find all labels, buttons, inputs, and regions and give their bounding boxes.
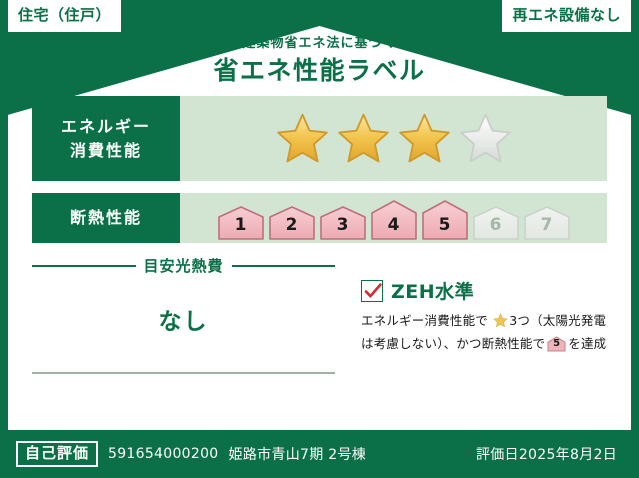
insulation-level-3: 3 xyxy=(319,206,367,240)
property-address: 姫路市青山7期 2号棟 xyxy=(229,444,367,464)
energy-performance-label-key: エネルギー 消費性能 xyxy=(32,96,180,181)
insulation-label: 断熱性能 xyxy=(70,206,142,229)
label-footer: 自己評価 591654000200 姫路市青山7期 2号棟 評価日2025年8月… xyxy=(0,430,639,478)
heading-rule-right xyxy=(232,265,336,267)
zeh-title: ZEH水準 xyxy=(391,277,474,304)
evaluation-date: 評価日2025年8月2日 xyxy=(476,444,623,464)
insulation-performance-label-key: 断熱性能 xyxy=(32,193,180,243)
insulation-level-7: 7 xyxy=(523,206,571,240)
insulation-level-6: 6 xyxy=(472,206,520,240)
energy-label-line2: 消費性能 xyxy=(70,139,142,162)
insulation-performance-row: 断熱性能 1234567 xyxy=(32,193,607,243)
insulation-level-2: 2 xyxy=(268,206,316,240)
self-evaluation-badge: 自己評価 xyxy=(16,441,98,467)
housing-type-tag: 住宅（住戸） xyxy=(8,0,121,32)
insulation-level-number: 1 xyxy=(217,215,265,235)
label-content: エネルギー 消費性能 断熱性能 1234567 目安光熱費 xyxy=(8,96,631,430)
check-icon xyxy=(361,280,383,302)
zeh-heading: ZEH水準 xyxy=(361,277,607,304)
insulation-level-scale: 1234567 xyxy=(217,193,571,243)
insulation-level-number: 2 xyxy=(268,215,316,235)
insulation-level-1: 1 xyxy=(217,206,265,240)
insulation-level-4: 4 xyxy=(370,200,418,240)
energy-performance-label: 住宅（住戸） 再エネ設備なし 建築物省エネ法に基づく 省エネ性能ラベル エネルギ… xyxy=(0,0,639,478)
insulation-level-5: 5 xyxy=(421,200,469,240)
renewable-equipment-tag: 再エネ設備なし xyxy=(502,0,631,32)
star-icon-filled xyxy=(274,111,331,166)
utility-cost-panel: 目安光熱費 なし xyxy=(32,255,347,374)
star-rating xyxy=(274,111,514,166)
insulation-level-number: 3 xyxy=(319,215,367,235)
insulation-performance-value: 1234567 xyxy=(180,193,607,243)
zeh-panel: ZEH水準 エネルギー消費性能で 3つ（太陽光発電 は考慮しない）、かつ断熱性能… xyxy=(347,255,607,374)
utility-cost-value: なし xyxy=(32,302,335,336)
zeh-desc-part4: を達成 xyxy=(568,336,606,351)
zeh-description: エネルギー消費性能で 3つ（太陽光発電 は考慮しない）、かつ断熱性能で 5 を達… xyxy=(361,311,607,355)
star-icon-filled xyxy=(335,111,392,166)
evaluation-id: 591654000200 xyxy=(108,446,219,462)
star-icon-filled xyxy=(396,111,453,166)
insulation-level-number: 4 xyxy=(370,215,418,235)
insulation-level-number: 5 xyxy=(421,215,469,235)
energy-performance-row: エネルギー 消費性能 xyxy=(32,96,607,181)
zeh-desc-part3: は考慮しない）、かつ断熱性能で xyxy=(361,336,545,351)
energy-label-line1: エネルギー xyxy=(61,115,151,138)
energy-performance-value xyxy=(180,96,607,181)
star-icon xyxy=(489,316,508,331)
lower-section: 目安光熱費 なし ZEH水準 エネルギー消費性能で xyxy=(32,255,607,374)
zeh-desc-part1: エネルギー消費性能で xyxy=(361,313,488,328)
insulation-level-number: 7 xyxy=(523,215,571,235)
star-icon-empty xyxy=(457,111,514,166)
zeh-desc-part2: 3つ（太陽光発電 xyxy=(509,313,606,328)
heading-rule-left xyxy=(32,265,136,267)
utility-cost-heading: 目安光熱費 xyxy=(32,255,335,276)
insulation-level-number: 6 xyxy=(472,215,520,235)
utility-cost-heading-text: 目安光熱費 xyxy=(144,255,224,276)
house-icon: 5 xyxy=(547,336,566,352)
utility-cost-divider xyxy=(32,372,335,374)
house-icon-number: 5 xyxy=(547,336,566,352)
